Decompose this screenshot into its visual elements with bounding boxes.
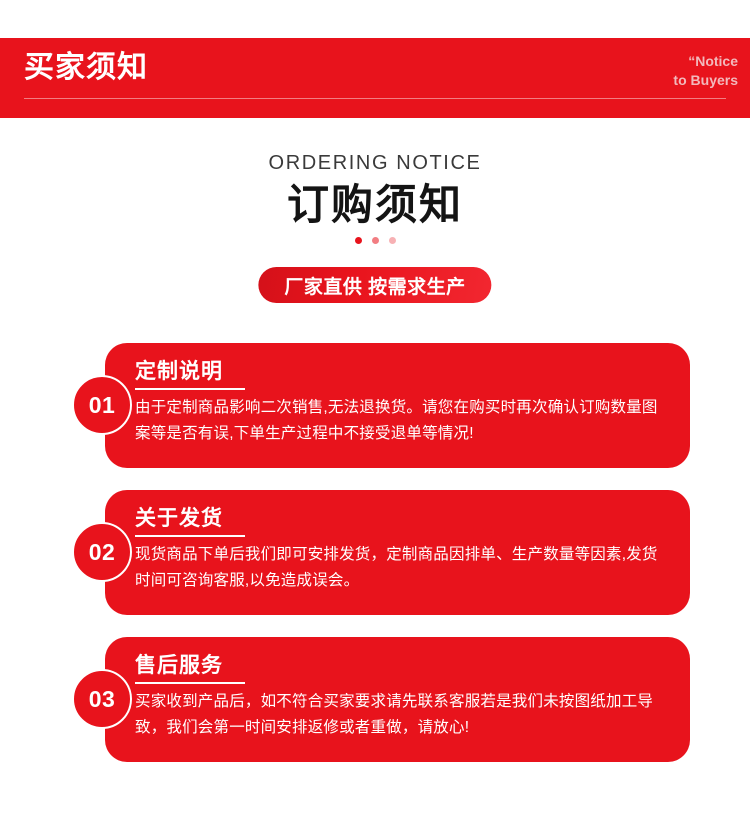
notice-card-number-badge: 01 [72,375,132,435]
notice-card-body: 售后服务 买家收到产品后，如不符合买家要求请先联系客服若是我们未按图纸加工导致，… [105,637,690,762]
header-en-line-1: “Notice [673,52,738,71]
dot-icon-1 [355,237,362,244]
header-en-line-2: to Buyers [673,71,738,90]
notice-card-underline [135,535,245,537]
notice-card-body: 关于发货 现货商品下单后我们即可安排发货，定制商品因排单、生产数量等因素,发货时… [105,490,690,615]
header-divider [24,98,726,99]
notice-card-list: 定制说明 由于定制商品影响二次销售,无法退换货。请您在购买时再次确认订购数量图案… [0,343,750,784]
slogan-pill: 厂家直供 按需求生产 [258,267,491,303]
dot-icon-2 [372,237,379,244]
header-title-en: “Notice to Buyers [673,52,738,90]
notice-card-body-text: 由于定制商品影响二次销售,无法退换货。请您在购买时再次确认订购数量图案等是否有误… [135,395,665,447]
notice-card: 定制说明 由于定制商品影响二次销售,无法退换货。请您在购买时再次确认订购数量图案… [0,343,750,468]
section-title-cn: 订购须知 [0,178,750,232]
notice-card: 售后服务 买家收到产品后，如不符合买家要求请先联系客服若是我们未按图纸加工导致，… [0,637,750,762]
notice-card-underline [135,682,245,684]
header-title-cn: 买家须知 [24,48,148,88]
notice-card-heading: 定制说明 [135,355,223,385]
notice-card-heading: 售后服务 [135,649,223,679]
notice-card-heading: 关于发货 [135,502,223,532]
decorative-dots [0,237,750,244]
header-banner: 买家须知 “Notice to Buyers [0,38,750,118]
notice-card-body-text: 现货商品下单后我们即可安排发货，定制商品因排单、生产数量等因素,发货时间可咨询客… [135,542,665,594]
notice-card: 关于发货 现货商品下单后我们即可安排发货，定制商品因排单、生产数量等因素,发货时… [0,490,750,615]
notice-card-number-badge: 03 [72,669,132,729]
notice-card-number-badge: 02 [72,522,132,582]
section-title-en: ORDERING NOTICE [0,150,750,176]
dot-icon-3 [389,237,396,244]
notice-card-body: 定制说明 由于定制商品影响二次销售,无法退换货。请您在购买时再次确认订购数量图案… [105,343,690,468]
notice-card-underline [135,388,245,390]
notice-card-body-text: 买家收到产品后，如不符合买家要求请先联系客服若是我们未按图纸加工导致，我们会第一… [135,689,665,741]
section-title-block: ORDERING NOTICE 订购须知 [0,150,750,244]
